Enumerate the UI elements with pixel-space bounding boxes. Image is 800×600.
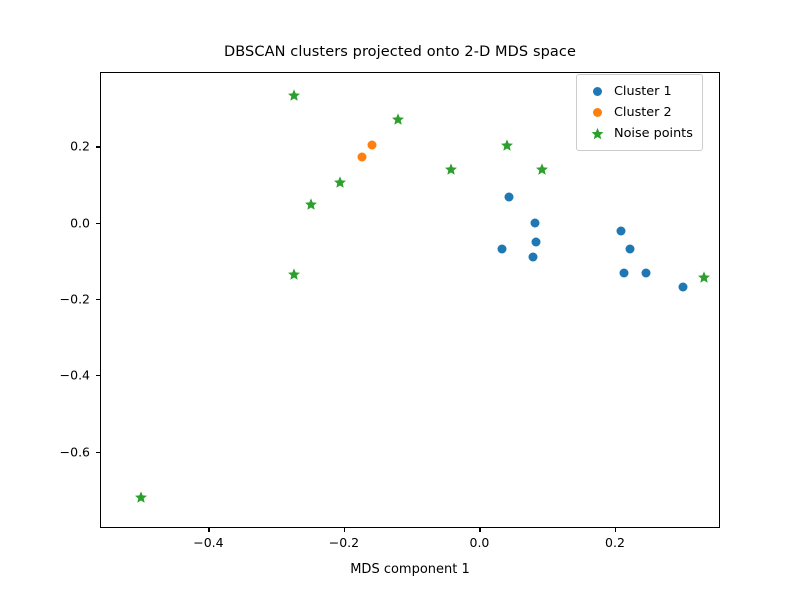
legend-dot-icon: [584, 108, 610, 117]
data-point-noise-points: [134, 490, 147, 503]
data-point-noise-points: [536, 162, 549, 175]
y-tick-label: 0.2: [70, 139, 90, 154]
legend-star-icon: [584, 127, 610, 140]
data-point-cluster-1: [531, 219, 540, 228]
data-point-noise-points: [500, 138, 513, 151]
y-tick-label: −0.4: [60, 368, 90, 383]
x-tick-mark: [208, 528, 209, 532]
legend-dot-icon: [584, 87, 610, 96]
data-point-noise-points: [697, 271, 710, 284]
legend-item-noise-points[interactable]: Noise points: [584, 123, 693, 144]
x-tick-mark: [615, 528, 616, 532]
y-tick-mark: [96, 299, 100, 300]
y-tick-mark: [96, 452, 100, 453]
y-tick-mark: [96, 375, 100, 376]
data-point-cluster-1: [678, 282, 687, 291]
legend-item-cluster-2[interactable]: Cluster 2: [584, 102, 693, 123]
data-point-noise-points: [288, 268, 301, 281]
data-point-noise-points: [444, 162, 457, 175]
legend-item-label: Noise points: [610, 126, 693, 141]
data-point-cluster-1: [625, 245, 634, 254]
data-point-noise-points: [305, 198, 318, 211]
data-point-cluster-1: [532, 237, 541, 246]
data-point-cluster-2: [357, 153, 366, 162]
data-point-noise-points: [333, 175, 346, 188]
data-point-noise-points: [392, 113, 405, 126]
x-tick-label: −0.4: [193, 535, 223, 550]
x-tick-label: 0.2: [605, 535, 625, 550]
data-point-cluster-2: [368, 140, 377, 149]
y-tick-mark: [96, 146, 100, 147]
y-tick-mark: [96, 223, 100, 224]
matplotlib-figure: DBSCAN clusters projected onto 2-D MDS s…: [0, 0, 800, 600]
x-tick-label: −0.2: [329, 535, 359, 550]
legend-item-label: Cluster 2: [610, 105, 672, 120]
data-point-cluster-1: [642, 269, 651, 278]
legend-item-cluster-1[interactable]: Cluster 1: [584, 81, 693, 102]
data-point-cluster-1: [528, 253, 537, 262]
data-point-cluster-1: [498, 245, 507, 254]
chart-legend[interactable]: Cluster 1Cluster 2Noise points: [576, 74, 703, 151]
data-point-cluster-1: [620, 269, 629, 278]
x-tick-mark: [479, 528, 480, 532]
data-point-cluster-1: [505, 193, 514, 202]
y-tick-label: 0.0: [70, 215, 90, 230]
data-point-noise-points: [288, 89, 301, 102]
chart-title: DBSCAN clusters projected onto 2-D MDS s…: [0, 44, 800, 60]
data-point-cluster-1: [617, 227, 626, 236]
x-tick-mark: [344, 528, 345, 532]
x-axis-label: MDS component 1: [100, 562, 720, 577]
x-tick-label: 0.0: [470, 535, 490, 550]
y-tick-label: −0.2: [60, 292, 90, 307]
y-tick-label: −0.6: [60, 444, 90, 459]
legend-item-label: Cluster 1: [610, 84, 672, 99]
